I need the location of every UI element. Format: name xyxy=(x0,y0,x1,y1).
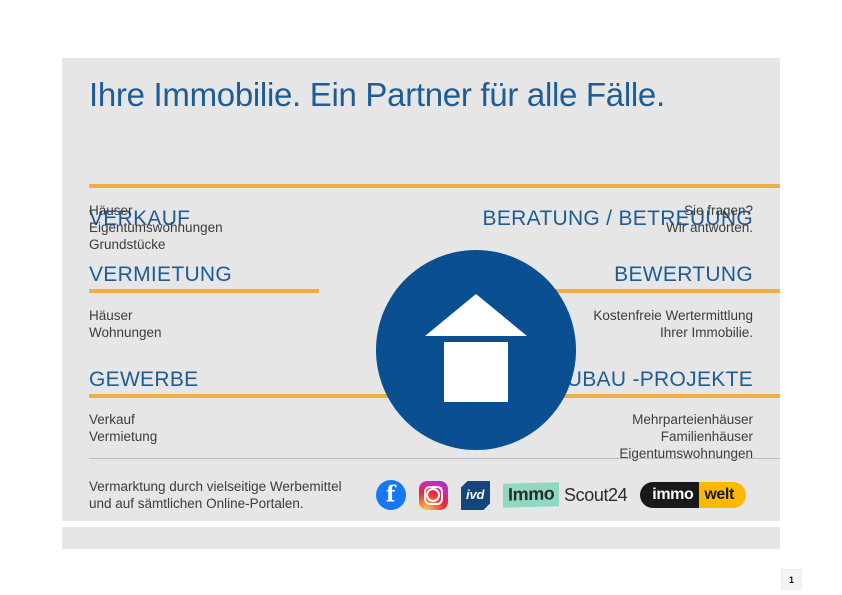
instagram-icon[interactable] xyxy=(419,481,448,510)
facebook-icon[interactable] xyxy=(376,480,406,510)
footer-text-line1: Vermarktung durch vielseitige Werbemitte… xyxy=(89,478,342,495)
list-item: Sie fragen? xyxy=(461,202,753,219)
block-title-gewerbe: GEWERBE xyxy=(89,367,381,393)
footer-bar: Vermarktung durch vielseitige Werbemitte… xyxy=(89,472,780,518)
list-item: Eigentumswohnungen xyxy=(461,445,753,462)
house-roof-shape xyxy=(425,294,527,336)
immoscout24-logo[interactable]: Immo Scout24 xyxy=(503,483,628,507)
ivd-logo[interactable]: ivd xyxy=(461,481,490,510)
list-item: Häuser xyxy=(89,202,381,219)
immowelt-label-welt: welt xyxy=(699,482,746,508)
page-number-badge[interactable]: 1 xyxy=(781,569,802,590)
footer-text-line2: und auf sämtlichen Online-Portalen. xyxy=(89,495,342,512)
instagram-lens-shape xyxy=(426,488,440,502)
footer-logos: ivd Immo Scout24 immo welt xyxy=(376,480,746,510)
block-title-vermietung: VERMIETUNG xyxy=(89,262,381,288)
list-item: Grundstücke xyxy=(89,236,381,253)
footer-text: Vermarktung durch vielseitige Werbemitte… xyxy=(89,478,342,512)
ivd-logo-label: ivd xyxy=(461,487,490,502)
immowelt-label-immo: immo xyxy=(640,482,699,508)
block-vermietung: VERMIETUNG xyxy=(89,262,381,288)
immoscout24-label-immo: Immo xyxy=(503,482,559,508)
slide-panel: Ihre Immobilie. Ein Partner für alle Fäl… xyxy=(62,58,780,521)
block-list-verkauf: Häuser Eigentumswohnungen Grundstücke xyxy=(89,194,381,253)
block-list-beratung-betreuung: Sie fragen? Wir antworten. xyxy=(461,194,753,236)
instagram-dot-shape xyxy=(439,487,442,490)
page-title: Ihre Immobilie. Ein Partner für alle Fäl… xyxy=(89,76,769,114)
slide-bottom-strip xyxy=(62,527,780,549)
immoscout24-label-scout24: Scout24 xyxy=(564,485,627,506)
house-body-shape xyxy=(444,342,508,402)
footer-divider xyxy=(89,458,780,459)
list-item: Verkauf xyxy=(89,411,381,428)
list-item: Wohnungen xyxy=(89,324,381,341)
block-gewerbe: GEWERBE xyxy=(89,367,381,393)
list-item: Vermietung xyxy=(89,428,381,445)
block-list-vermietung: Häuser Wohnungen xyxy=(89,299,381,341)
divider-rule-1 xyxy=(89,184,780,188)
block-list-gewerbe: Verkauf Vermietung xyxy=(89,403,381,445)
list-item: Eigentumswohnungen xyxy=(89,219,381,236)
list-item: Häuser xyxy=(89,307,381,324)
immowelt-logo[interactable]: immo welt xyxy=(640,482,746,508)
divider-rule-2-right xyxy=(549,289,780,293)
house-in-circle-icon xyxy=(376,250,576,450)
list-item: Wir antworten. xyxy=(461,219,753,236)
divider-rule-2-left xyxy=(89,289,319,293)
